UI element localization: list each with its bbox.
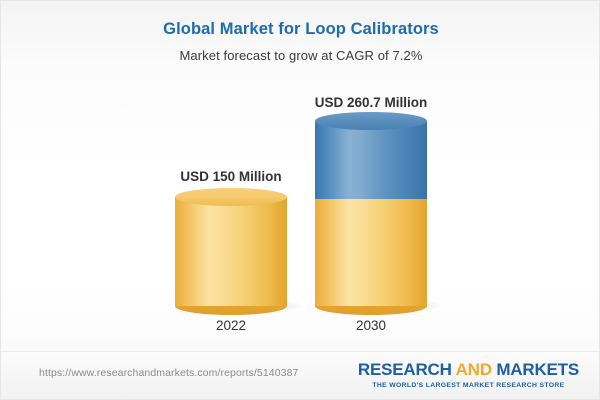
brand-name-part2: MARKETS: [492, 360, 579, 379]
bar-cylinder-2030[interactable]: [315, 121, 427, 306]
report-url-link[interactable]: https://www.researchandmarkets.com/repor…: [39, 367, 298, 379]
brand-name: RESEARCH AND MARKETS: [358, 360, 579, 380]
bar-segment-2022-yellow: [175, 197, 287, 306]
cylinder-body: [315, 198, 427, 306]
cylinder-top-ellipse: [315, 112, 427, 130]
bar-value-label-2022: USD 150 Million: [131, 169, 331, 184]
bar-cylinder-2022[interactable]: [175, 197, 287, 306]
brand-name-part1: RESEARCH: [358, 360, 456, 379]
brand-tagline: THE WORLD'S LARGEST MARKET RESEARCH STOR…: [358, 382, 579, 389]
cylinder-top-ellipse: [175, 188, 287, 206]
bar-segment-2030-yellow-base: [315, 198, 427, 306]
research-and-markets-logo[interactable]: RESEARCH AND MARKETS THE WORLD'S LARGEST…: [358, 360, 579, 389]
bar-value-label-2030: USD 260.7 Million: [271, 95, 471, 110]
x-axis-label-2030: 2030: [271, 318, 471, 333]
chart-card: Global Market for Loop Calibrators Marke…: [0, 0, 600, 400]
chart-footer: https://www.researchandmarkets.com/repor…: [1, 351, 600, 399]
bar-segment-2030-blue: [315, 121, 427, 199]
brand-name-and: AND: [456, 360, 492, 379]
cylinder-body: [175, 197, 287, 306]
chart-plot-area: USD 150 Million 2022 USD 260.7 Million: [1, 1, 600, 353]
cylinder-body: [315, 121, 427, 199]
